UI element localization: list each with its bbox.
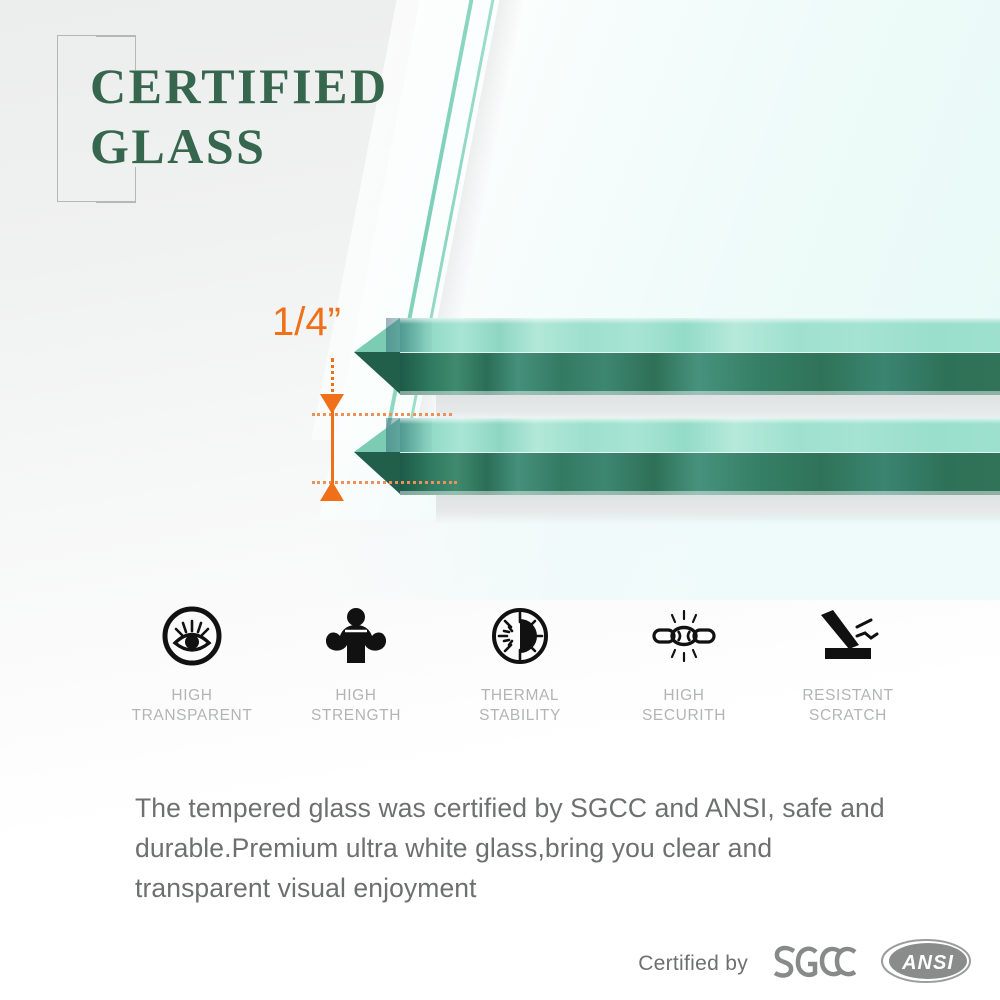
slab-top-face [400, 318, 1000, 353]
certified-glass-infographic: 1/4” CERTIFIED GLASS [0, 0, 1000, 1000]
feature-item-high-strength: HIGH STRENGTH [274, 600, 438, 726]
chain-icon [648, 600, 720, 672]
feature-item-high-transparent: HIGH TRANSPARENT [110, 600, 274, 726]
svg-text:ANSI: ANSI [901, 952, 954, 974]
ansi-logo: ANSI [880, 938, 972, 989]
feature-label: RESISTANT SCRATCH [802, 686, 893, 726]
certified-by-label: Certified by [638, 952, 748, 976]
feature-list: HIGH TRANSPARENT HIGH STRENGTH [110, 600, 930, 726]
slab-front-face [400, 353, 1000, 395]
bracket-tick-bottom [96, 202, 136, 203]
title-line-1: CERTIFIED [90, 56, 650, 116]
slab-front-face [400, 453, 1000, 495]
slab-bevel-front [354, 352, 400, 394]
dimension-arrow-up-icon [320, 394, 344, 414]
feature-item-resistant-scratch: RESISTANT SCRATCH [766, 600, 930, 726]
feature-label: THERMAL STABILITY [479, 686, 561, 726]
page-title: CERTIFIED GLASS [90, 56, 650, 176]
slab-corner-shade [386, 418, 432, 452]
slab-bevel-front [354, 452, 400, 494]
feature-label: HIGH TRANSPARENT [132, 686, 253, 726]
bracket-tick-top [96, 36, 136, 37]
eye-icon [161, 600, 223, 672]
feature-item-high-securith: HIGH SECURITH [602, 600, 766, 726]
feature-label: HIGH SECURITH [642, 686, 726, 726]
slab-corner-shade [386, 318, 432, 352]
feature-item-thermal-stability: THERMAL STABILITY [438, 600, 602, 726]
muscle-icon [323, 600, 389, 672]
title-line-2: GLASS [90, 116, 650, 176]
dimension-arrow-down-icon [320, 481, 344, 501]
description-text: The tempered glass was certified by SGCC… [135, 788, 905, 908]
glass-slab-lower-shadow [436, 494, 1000, 524]
glass-slab-upper [400, 318, 1000, 395]
slab-top-face [400, 418, 1000, 453]
sgcc-logo [770, 939, 858, 988]
thickness-label: 1/4” [272, 300, 341, 345]
feature-label: HIGH STRENGTH [311, 686, 401, 726]
glass-slab-lower [400, 418, 1000, 495]
thermal-icon [489, 600, 551, 672]
scratch-icon [813, 600, 883, 672]
certification-row: Certified by ANSI [638, 938, 972, 989]
